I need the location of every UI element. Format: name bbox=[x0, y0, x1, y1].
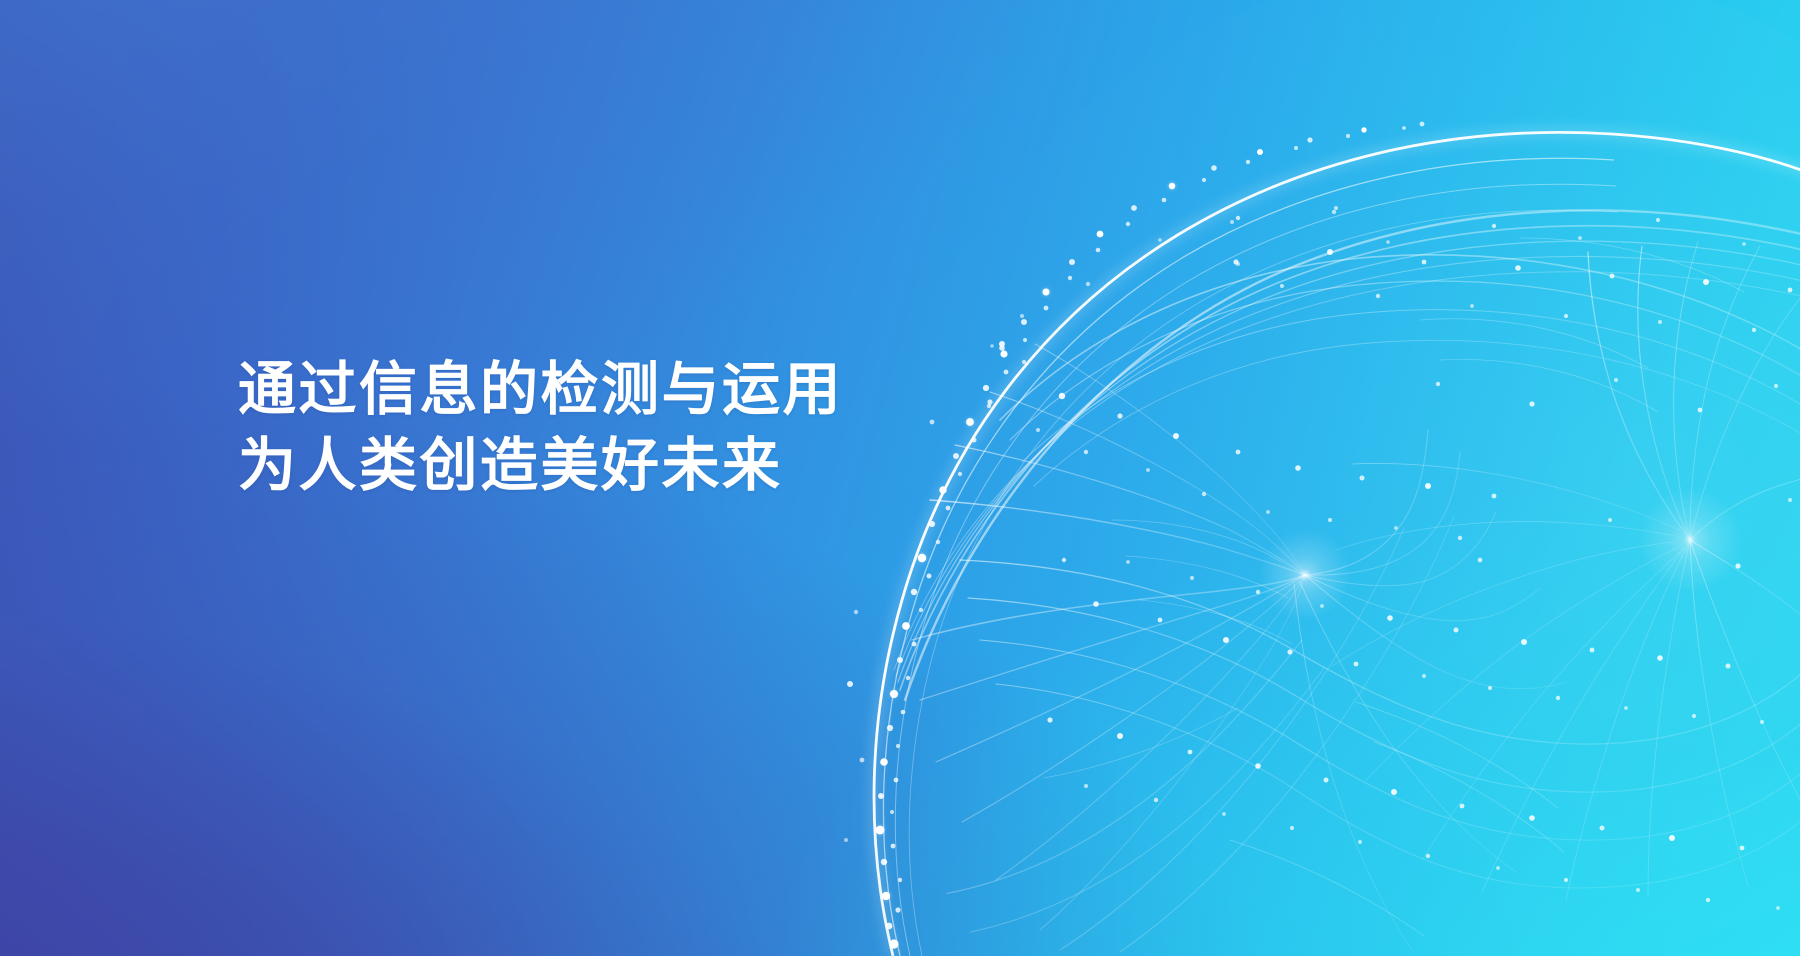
headline-line-1: 通过信息的检测与运用 bbox=[238, 352, 843, 428]
hero-banner: 通过信息的检测与运用 为人类创造美好未来 bbox=[0, 0, 1800, 956]
headline-line-2: 为人类创造美好未来 bbox=[238, 428, 843, 504]
headline: 通过信息的检测与运用 为人类创造美好未来 bbox=[238, 352, 843, 504]
